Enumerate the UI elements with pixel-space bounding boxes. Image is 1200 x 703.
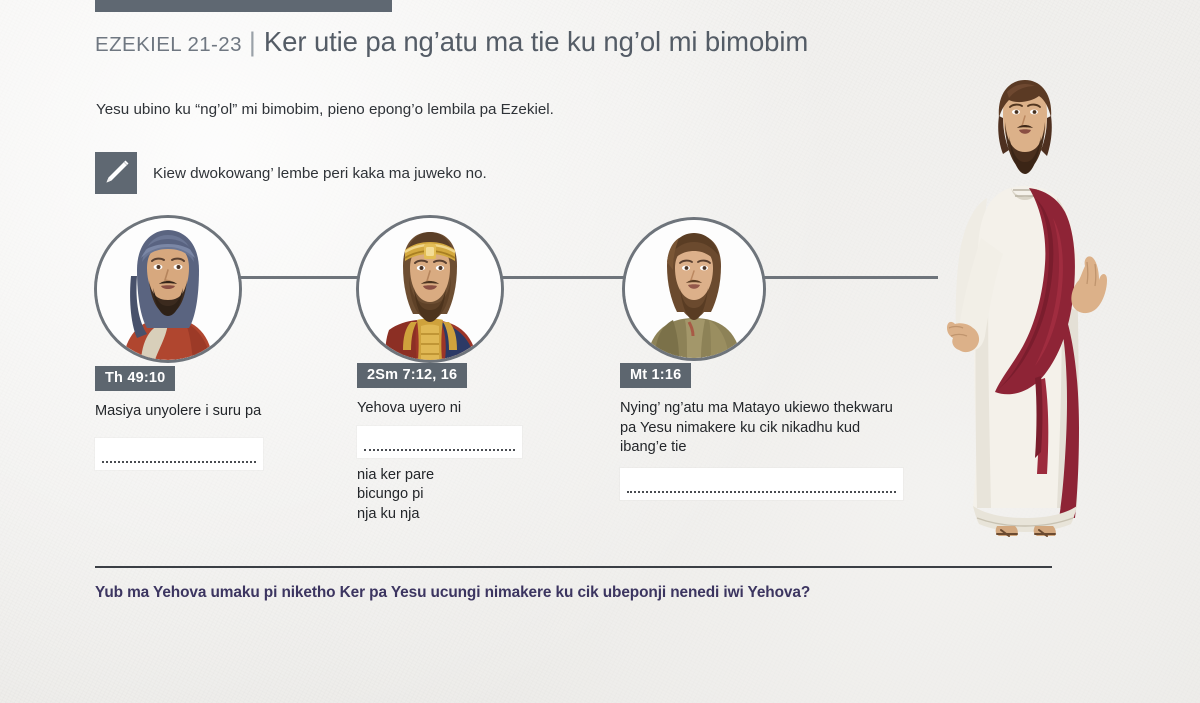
- top-section-tab: [95, 0, 392, 12]
- answer-blank-1[interactable]: [95, 438, 263, 470]
- timeline-node-2: [356, 215, 504, 363]
- timeline-node-3: [622, 217, 766, 361]
- timeline-connector-line: [160, 276, 938, 279]
- jesus-figure: [925, 78, 1125, 538]
- scripture-badge-1: Th 49:10: [95, 366, 175, 391]
- king-david-portrait: [356, 215, 504, 363]
- timeline-card-3: Mt 1:16 Nying’ ng’atu ma Matayo ukiewo t…: [620, 363, 910, 500]
- card-text-2-continued: nia ker pare bicungo pi nja ku nja: [357, 466, 532, 525]
- scripture-badge-2: 2Sm 7:12, 16: [357, 363, 467, 388]
- answer-blank-2[interactable]: [357, 426, 522, 458]
- heading-scripture-range: EZEKIEL 21-23: [95, 33, 242, 57]
- footer-divider: [95, 566, 1052, 568]
- card-text-1: Masiya unyolere i suru pa: [95, 402, 280, 422]
- judah-portrait: [94, 215, 242, 363]
- timeline-card-1: Th 49:10 Masiya unyolere i suru pa: [95, 366, 280, 470]
- pencil-icon: [95, 152, 137, 194]
- answer-blank-3[interactable]: [620, 468, 903, 500]
- heading-separator: |: [249, 27, 256, 58]
- timeline-card-2: 2Sm 7:12, 16 Yehova uyero ni nia ker par…: [357, 363, 532, 524]
- intro-paragraph: Yesu ubino ku “ng’ol” mi bimobim, pieno …: [96, 101, 554, 118]
- timeline-node-1: [94, 215, 242, 363]
- footer-question: Yub ma Yehova umaku pi niketho Ker pa Ye…: [95, 584, 810, 602]
- card-text-2: Yehova uyero ni: [357, 399, 532, 419]
- scripture-badge-3: Mt 1:16: [620, 363, 691, 388]
- page-title: Ker utie pa ng’atu ma tie ku ng’ol mi bi…: [264, 26, 808, 58]
- card-text-3: Nying’ ng’atu ma Matayo ukiewo thekwaru …: [620, 399, 905, 458]
- instruction-text: Kiew dwokowang’ lembe peri kaka ma juwek…: [153, 165, 487, 182]
- instruction-row: Kiew dwokowang’ lembe peri kaka ma juwek…: [95, 152, 487, 194]
- page-heading: EZEKIEL 21-23 | Ker utie pa ng’atu ma ti…: [95, 26, 808, 58]
- joseph-portrait: [622, 217, 766, 361]
